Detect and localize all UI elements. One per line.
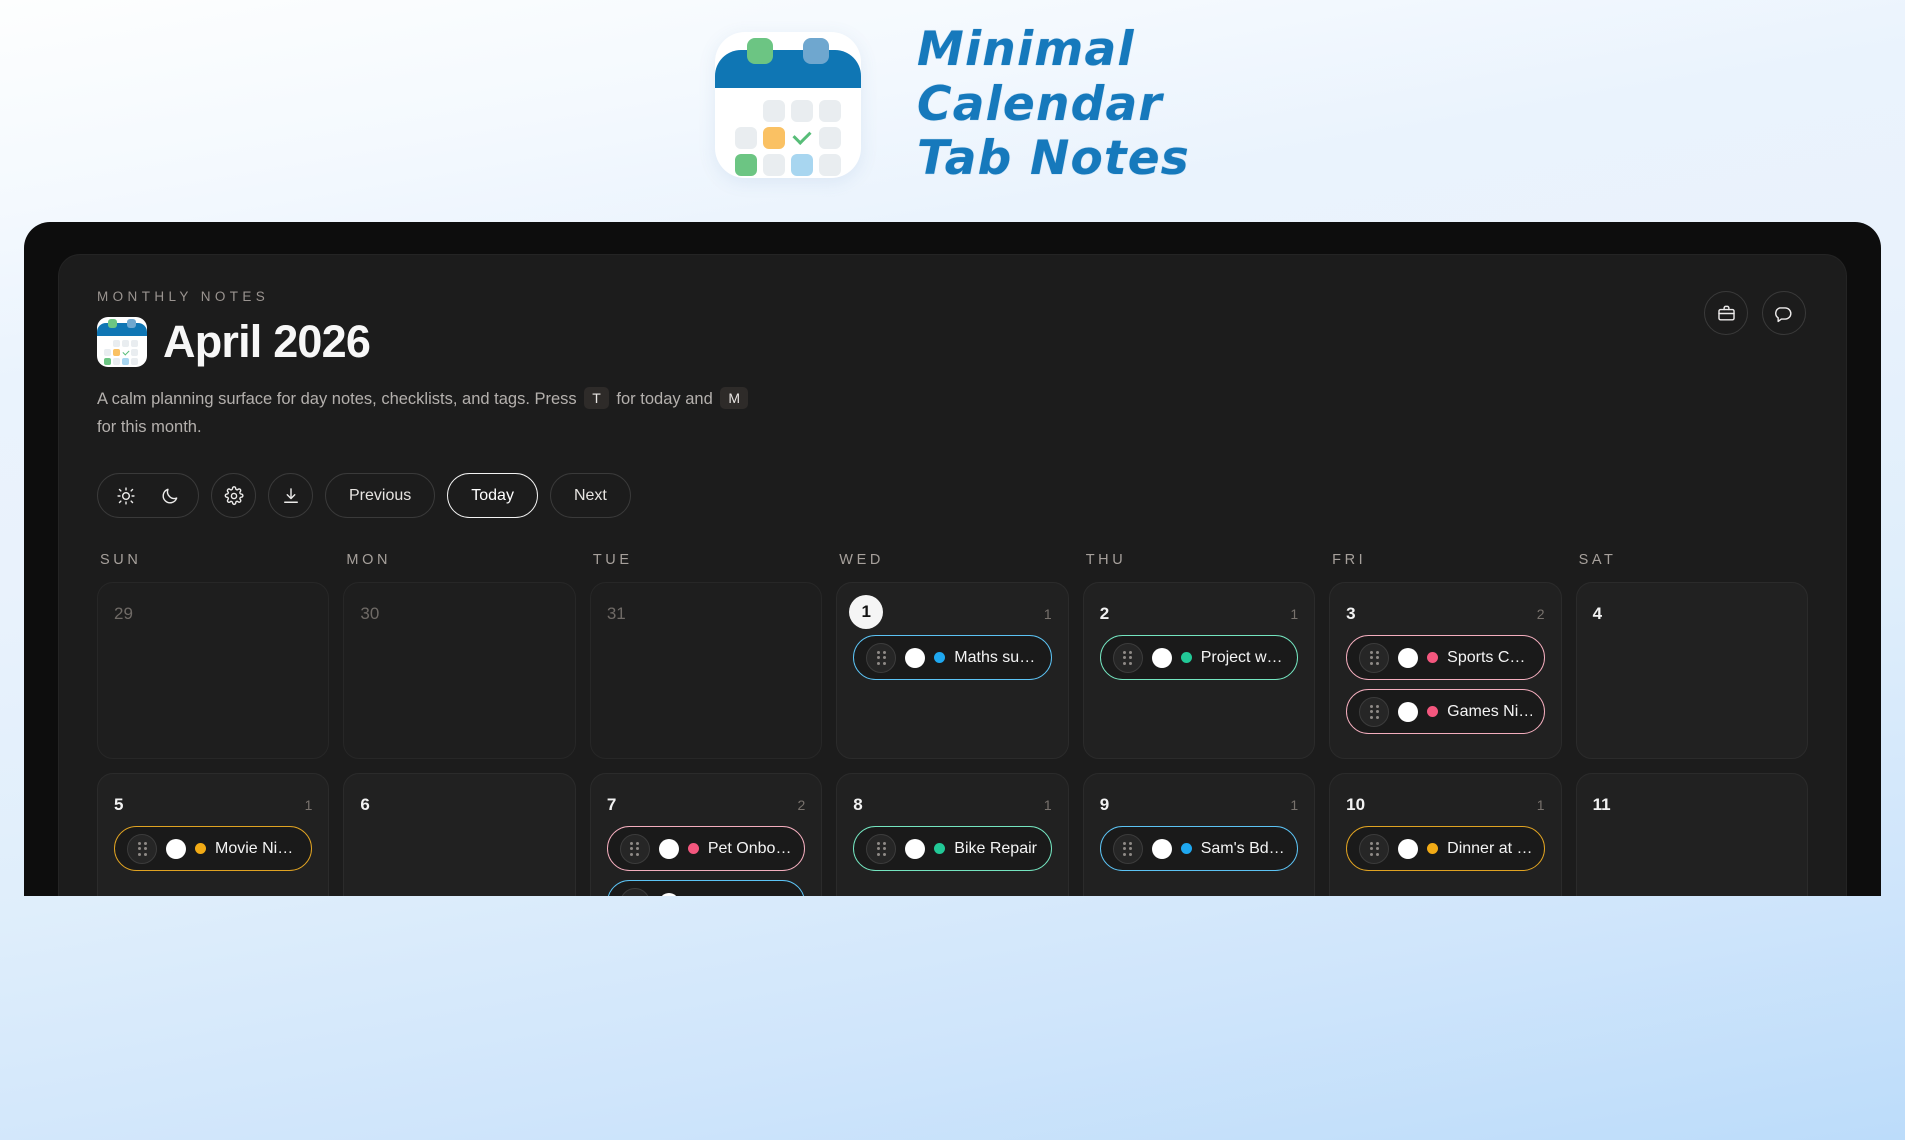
day-event-count: 1 xyxy=(1537,790,1545,820)
drag-handle-icon[interactable] xyxy=(866,643,896,673)
day-number: 11 xyxy=(1593,790,1611,820)
event-item[interactable]: Pet Onbo… xyxy=(607,826,805,871)
weekday-label-sat: SAT xyxy=(1576,552,1808,568)
day-number: 9 xyxy=(1100,790,1109,820)
today-button[interactable]: Today xyxy=(447,473,538,518)
drag-handle-icon[interactable] xyxy=(127,834,157,864)
day-event-count: 1 xyxy=(1290,599,1298,629)
day-cell-4[interactable]: 4 xyxy=(1576,582,1808,759)
logo-tab-left xyxy=(747,38,773,64)
day-cell-2[interactable]: 21Project w… xyxy=(1083,582,1315,759)
day-number: 4 xyxy=(1593,599,1602,629)
day-event-list: Dinner at … xyxy=(1346,826,1544,871)
day-number: 31 xyxy=(607,599,626,629)
event-checkbox[interactable] xyxy=(659,893,679,897)
event-item[interactable]: Grocery S… xyxy=(607,880,805,896)
moon-icon xyxy=(160,486,180,506)
event-checkbox[interactable] xyxy=(659,839,679,859)
day-event-count: 1 xyxy=(305,790,313,820)
event-item[interactable]: Maths su… xyxy=(853,635,1051,680)
hero-title: Minimal Calendar Tab Notes xyxy=(917,23,1190,187)
event-checkbox[interactable] xyxy=(1152,648,1172,668)
briefcase-button[interactable] xyxy=(1704,291,1748,335)
weekday-label-mon: MON xyxy=(343,552,575,568)
event-tag-dot xyxy=(934,843,945,854)
day-event-count: 1 xyxy=(1044,599,1052,629)
day-header: 6 xyxy=(360,790,558,822)
theme-toggle-group xyxy=(97,473,199,518)
day-event-list: Sports C…Games Ni… xyxy=(1346,635,1544,734)
kbd-month: M xyxy=(720,387,748,409)
day-number-today: 1 xyxy=(849,595,883,629)
event-tag-dot xyxy=(195,843,206,854)
event-tag-dot xyxy=(1427,843,1438,854)
event-item[interactable]: Dinner at … xyxy=(1346,826,1544,871)
day-event-list: Movie Ni… xyxy=(114,826,312,871)
day-number: 10 xyxy=(1346,790,1365,820)
event-item[interactable]: Movie Ni… xyxy=(114,826,312,871)
day-header: 4 xyxy=(1593,599,1791,631)
page-title-row: April 2026 xyxy=(97,316,1808,368)
event-label: Movie Ni… xyxy=(215,840,299,858)
calendar-title-icon xyxy=(97,317,147,367)
app-panel: MONTHLY NOTES April 2026 A calm planning… xyxy=(58,254,1847,896)
day-cell-30[interactable]: 30 xyxy=(343,582,575,759)
day-number: 6 xyxy=(360,790,369,820)
day-cell-31[interactable]: 31 xyxy=(590,582,822,759)
day-cell-5[interactable]: 51Movie Ni… xyxy=(97,773,329,896)
day-event-list: Pet Onbo…Grocery S… xyxy=(607,826,805,896)
calendar-grid: 29303111Maths su…21Project w…32Sports C…… xyxy=(97,582,1808,896)
calendar-logo-icon xyxy=(715,32,861,178)
previous-month-button[interactable]: Previous xyxy=(325,473,435,518)
event-tag-dot xyxy=(688,843,699,854)
weekday-label-wed: WED xyxy=(836,552,1068,568)
day-number: 30 xyxy=(360,599,379,629)
drag-handle-icon[interactable] xyxy=(1113,834,1143,864)
day-cell-7[interactable]: 72Pet Onbo…Grocery S… xyxy=(590,773,822,896)
page-subtitle: A calm planning surface for day notes, c… xyxy=(97,385,757,441)
event-label: Project w… xyxy=(1201,649,1285,667)
drag-handle-icon[interactable] xyxy=(1113,643,1143,673)
day-number: 2 xyxy=(1100,599,1109,629)
day-header: 11 xyxy=(1593,790,1791,822)
event-label: Games Ni… xyxy=(1447,703,1531,721)
event-tag-dot xyxy=(1427,652,1438,663)
day-cell-9[interactable]: 91Sam's Bd… xyxy=(1083,773,1315,896)
event-item[interactable]: Games Ni… xyxy=(1346,689,1544,734)
logo-tab-right xyxy=(803,38,829,64)
event-item[interactable]: Sports C… xyxy=(1346,635,1544,680)
day-header: 11 xyxy=(853,599,1051,631)
day-header: 30 xyxy=(360,599,558,631)
drag-handle-icon[interactable] xyxy=(620,888,650,897)
drag-handle-icon[interactable] xyxy=(1359,834,1389,864)
day-event-count: 2 xyxy=(797,790,805,820)
download-icon xyxy=(281,486,301,506)
day-cell-29[interactable]: 29 xyxy=(97,582,329,759)
day-cell-6[interactable]: 6 xyxy=(343,773,575,896)
day-header: 72 xyxy=(607,790,805,822)
event-tag-dot xyxy=(1181,652,1192,663)
event-tag-dot xyxy=(934,652,945,663)
subtitle-text-2: for today and xyxy=(616,390,712,408)
comment-icon xyxy=(1775,304,1794,323)
day-number: 3 xyxy=(1346,599,1355,629)
day-header: 32 xyxy=(1346,599,1544,631)
hero-banner: Minimal Calendar Tab Notes xyxy=(0,0,1905,218)
gear-icon xyxy=(224,486,244,506)
event-label: Maths su… xyxy=(954,649,1038,667)
event-label: Bike Repair xyxy=(954,840,1038,858)
day-event-count: 1 xyxy=(1044,790,1052,820)
drag-handle-icon[interactable] xyxy=(866,834,896,864)
day-cell-10[interactable]: 101Dinner at … xyxy=(1329,773,1561,896)
day-number: 5 xyxy=(114,790,123,820)
event-label: Dinner at … xyxy=(1447,840,1531,858)
drag-handle-icon[interactable] xyxy=(1359,697,1389,727)
settings-button[interactable] xyxy=(211,473,256,518)
event-tag-dot xyxy=(1427,706,1438,717)
logo-header-band xyxy=(715,50,861,88)
day-event-list: Project w… xyxy=(1100,635,1298,680)
download-button[interactable] xyxy=(268,473,313,518)
day-event-count: 2 xyxy=(1537,599,1545,629)
next-month-button[interactable]: Next xyxy=(550,473,631,518)
event-label: Sports C… xyxy=(1447,649,1531,667)
day-number: 29 xyxy=(114,599,133,629)
day-event-list: Bike Repair xyxy=(853,826,1051,871)
day-number: 7 xyxy=(607,790,616,820)
weekday-label-sun: SUN xyxy=(97,552,329,568)
event-checkbox[interactable] xyxy=(1152,839,1172,859)
day-event-list: Maths su… xyxy=(853,635,1051,680)
subtitle-text-1: A calm planning surface for day notes, c… xyxy=(97,390,577,408)
drag-handle-icon[interactable] xyxy=(1359,643,1389,673)
briefcase-icon xyxy=(1717,304,1736,323)
drag-handle-icon[interactable] xyxy=(620,834,650,864)
event-checkbox[interactable] xyxy=(166,839,186,859)
day-header: 29 xyxy=(114,599,312,631)
event-label: Sam's Bd… xyxy=(1201,840,1285,858)
page-title: April 2026 xyxy=(163,316,370,368)
day-cell-3[interactable]: 32Sports C…Games Ni… xyxy=(1329,582,1561,759)
event-checkbox[interactable] xyxy=(1398,648,1418,668)
event-label: Grocery S… xyxy=(708,894,792,897)
event-item[interactable]: Bike Repair xyxy=(853,826,1051,871)
page-eyebrow: MONTHLY NOTES xyxy=(97,289,1808,304)
day-header: 51 xyxy=(114,790,312,822)
theme-light-button[interactable] xyxy=(104,477,148,514)
weekday-label-fri: FRI xyxy=(1329,552,1561,568)
sun-icon xyxy=(116,486,136,506)
event-item[interactable]: Sam's Bd… xyxy=(1100,826,1298,871)
day-cell-11[interactable]: 11 xyxy=(1576,773,1808,896)
logo-date-grid xyxy=(735,100,841,176)
event-checkbox[interactable] xyxy=(1398,702,1418,722)
calendar-toolbar: Previous Today Next xyxy=(97,473,1808,518)
event-label: Pet Onbo… xyxy=(708,840,792,858)
weekday-label-thu: THU xyxy=(1083,552,1315,568)
weekday-label-tue: TUE xyxy=(590,552,822,568)
weekday-header: SUNMONTUEWEDTHUFRISAT xyxy=(97,552,1808,568)
day-header: 81 xyxy=(853,790,1051,822)
header-actions xyxy=(1704,291,1806,335)
app-window: MONTHLY NOTES April 2026 A calm planning… xyxy=(24,222,1881,896)
day-header: 21 xyxy=(1100,599,1298,631)
day-number: 8 xyxy=(853,790,862,820)
day-header: 31 xyxy=(607,599,805,631)
theme-dark-button[interactable] xyxy=(148,477,192,514)
subtitle-text-3: for this month. xyxy=(97,418,202,436)
event-checkbox[interactable] xyxy=(905,648,925,668)
day-header: 91 xyxy=(1100,790,1298,822)
comment-button[interactable] xyxy=(1762,291,1806,335)
day-event-count: 1 xyxy=(1290,790,1298,820)
day-event-list: Sam's Bd… xyxy=(1100,826,1298,871)
event-checkbox[interactable] xyxy=(905,839,925,859)
kbd-today: T xyxy=(584,387,609,409)
event-checkbox[interactable] xyxy=(1398,839,1418,859)
day-header: 101 xyxy=(1346,790,1544,822)
event-item[interactable]: Project w… xyxy=(1100,635,1298,680)
day-cell-1[interactable]: 11Maths su… xyxy=(836,582,1068,759)
event-tag-dot xyxy=(1181,843,1192,854)
day-cell-8[interactable]: 81Bike Repair xyxy=(836,773,1068,896)
